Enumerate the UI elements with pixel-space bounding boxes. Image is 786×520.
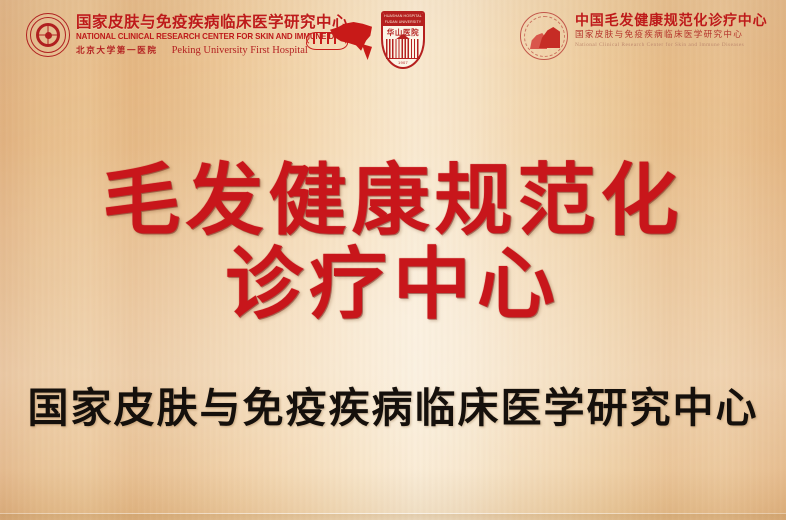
right-org-cn-name: 中国毛发健康规范化诊疗中心 bbox=[575, 12, 767, 28]
right-org-en-sub: National Clinical Research Center for Sk… bbox=[575, 41, 767, 50]
title-line-1: 毛发健康规范化 bbox=[0, 158, 786, 242]
shield-top-en: HUASHAN HOSPITAL FUDAN UNIVERSITY bbox=[383, 13, 423, 26]
huashan-hospital-shield-icon: HUASHAN HOSPITAL FUDAN UNIVERSITY 华山医院 1… bbox=[381, 11, 425, 69]
subtitle-text: 国家皮肤与免疫疾病临床医学研究中心 bbox=[0, 383, 786, 433]
left-org-hospital-en: Peking University First Hospital bbox=[172, 45, 308, 56]
left-org-hospital-cn: 北京大学第一医院 bbox=[76, 44, 158, 56]
header-bar: 国家皮肤与免疫疾病临床医学研究中心 NATIONAL CLINICAL RESE… bbox=[0, 0, 786, 82]
right-organization-lockup: 中国毛发健康规范化诊疗中心 国家皮肤与免疫疾病临床医学研究中心 National… bbox=[520, 12, 767, 60]
right-organization-text: 中国毛发健康规范化诊疗中心 国家皮肤与免疫疾病临床医学研究中心 National… bbox=[575, 12, 767, 50]
red-china-map-dna-icon bbox=[306, 20, 372, 60]
circular-flame-seal-icon bbox=[520, 12, 568, 60]
title-line-2: 诊疗中心 bbox=[0, 242, 786, 326]
circular-red-seal-icon bbox=[26, 13, 70, 57]
right-org-cn-sub: 国家皮肤与免疫疾病临床医学研究中心 bbox=[575, 28, 767, 41]
shield-building-icon bbox=[386, 39, 420, 59]
main-title-block: 毛发健康规范化 诊疗中心 bbox=[0, 158, 786, 326]
plaque-board: 国家皮肤与免疫疾病临床医学研究中心 NATIONAL CLINICAL RESE… bbox=[0, 0, 786, 520]
shield-year: 1907 bbox=[381, 60, 425, 65]
bottom-edge-shadow bbox=[0, 514, 786, 520]
